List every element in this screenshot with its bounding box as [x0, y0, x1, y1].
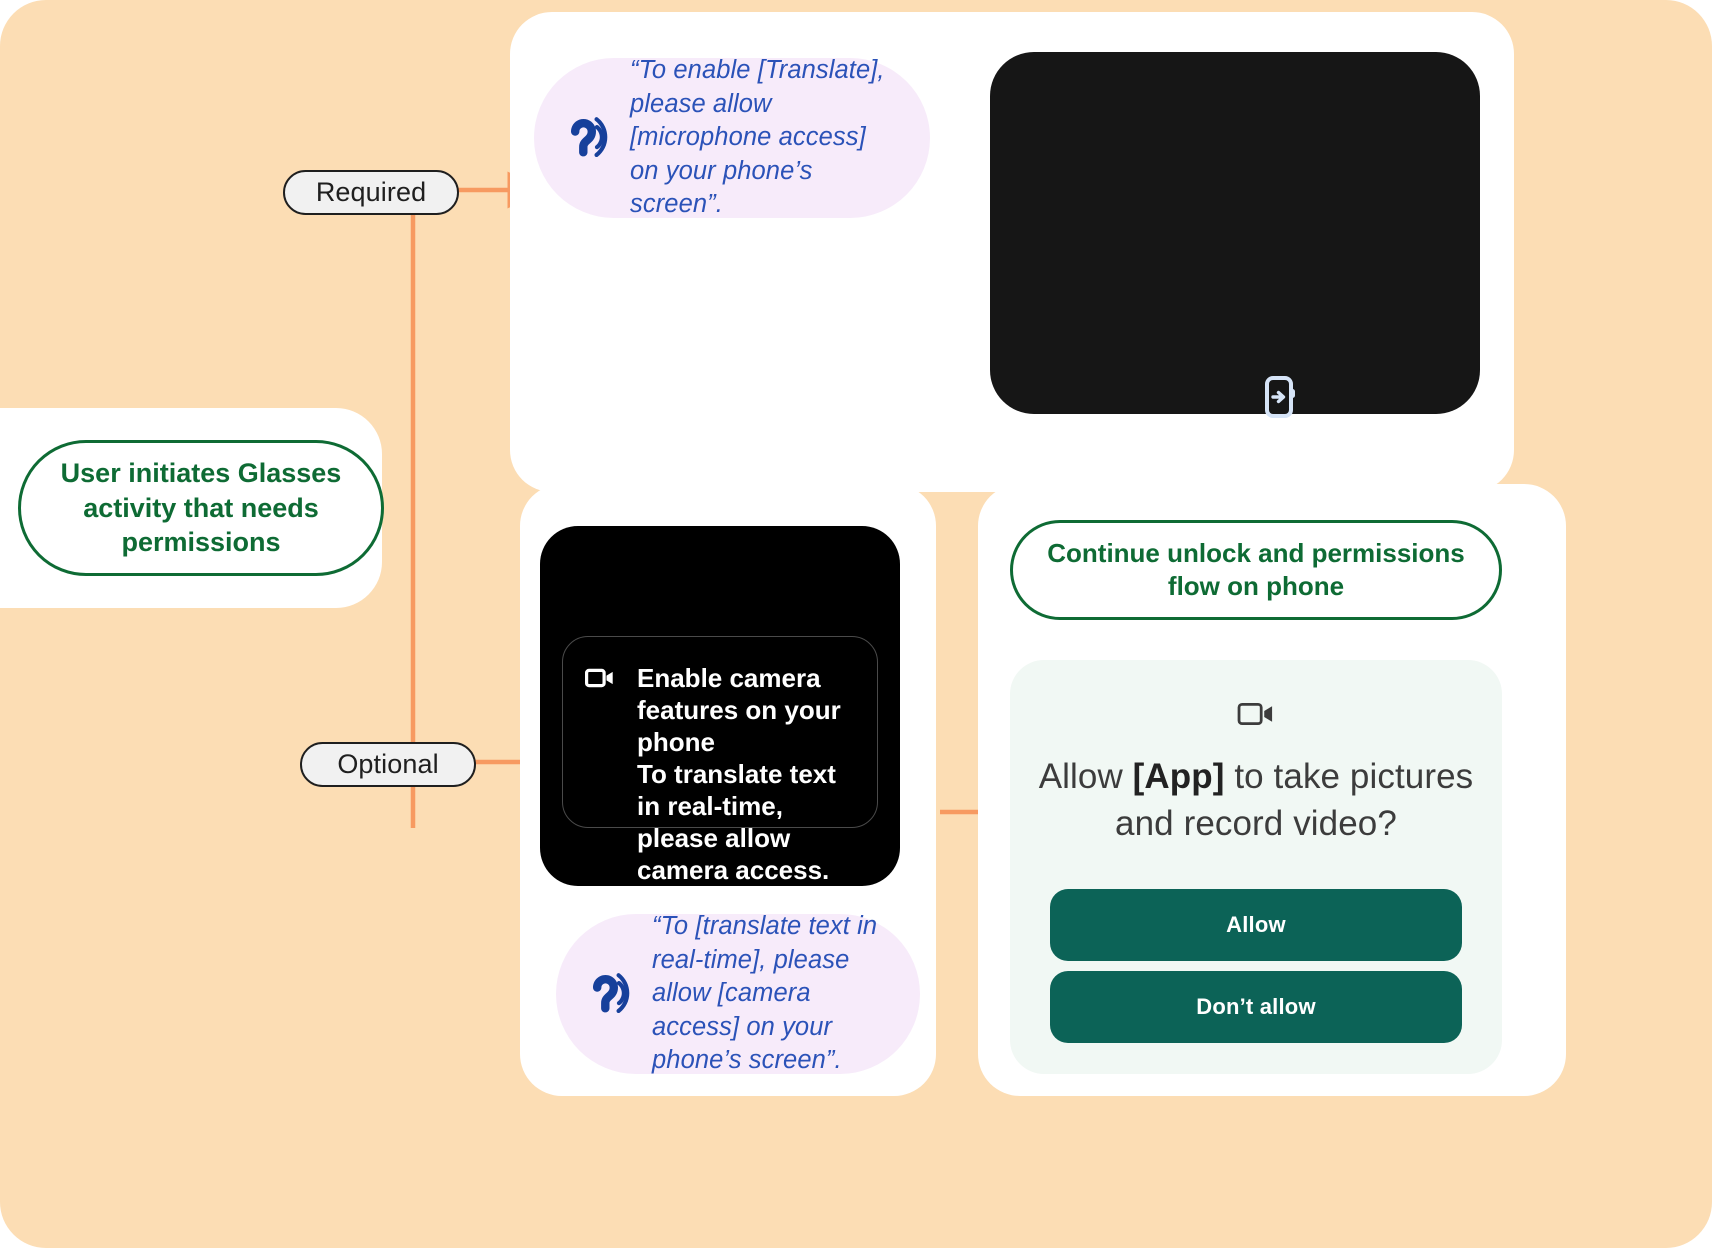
permission-question-pre: Allow [1039, 757, 1133, 796]
dont-allow-button[interactable]: Don’t allow [1050, 971, 1462, 1043]
dont-allow-button-label: Don’t allow [1196, 994, 1316, 1020]
video-camera-icon [1237, 700, 1275, 728]
diagram-canvas: User initiates Glasses activity that nee… [0, 0, 1712, 1248]
required-voice-bubble: “To enable [Translate], please allow [mi… [534, 58, 930, 218]
start-node: User initiates Glasses activity that nee… [18, 440, 384, 576]
branch-required-label: Required [316, 177, 426, 208]
phone-flow-headline-label: Continue unlock and permissions flow on … [1047, 537, 1465, 604]
glasses-unlock-screen [990, 52, 1480, 414]
ear-hearing-icon [586, 970, 630, 1018]
glasses-card-body: To translate text in real-time, please a… [637, 759, 836, 885]
phone-flow-headline: Continue unlock and permissions flow on … [1010, 520, 1502, 620]
branch-optional[interactable]: Optional [300, 742, 476, 787]
phone-unlock-icon [1264, 375, 1298, 419]
permission-question: Allow [App] to take pictures and record … [1036, 754, 1476, 847]
allow-button[interactable]: Allow [1050, 889, 1462, 961]
permission-dialog: Allow [App] to take pictures and record … [1010, 660, 1502, 1074]
glasses-card-title: Enable camera features on your phone [637, 663, 841, 757]
glasses-camera-card: Enable camera features on your phone To … [562, 636, 878, 828]
video-camera-icon [585, 663, 615, 801]
optional-voice-bubble: “To [translate text in real-time], pleas… [556, 914, 920, 1074]
required-voice-text: “To enable [Translate], please allow [mi… [630, 54, 896, 222]
allow-button-label: Allow [1226, 912, 1286, 938]
permission-question-app: [App] [1133, 757, 1225, 796]
start-node-label: User initiates Glasses activity that nee… [47, 456, 355, 560]
branch-required[interactable]: Required [283, 170, 459, 215]
branch-optional-label: Optional [337, 749, 438, 780]
optional-voice-text: “To [translate text in real-time], pleas… [652, 910, 886, 1078]
ear-hearing-icon [564, 114, 608, 162]
